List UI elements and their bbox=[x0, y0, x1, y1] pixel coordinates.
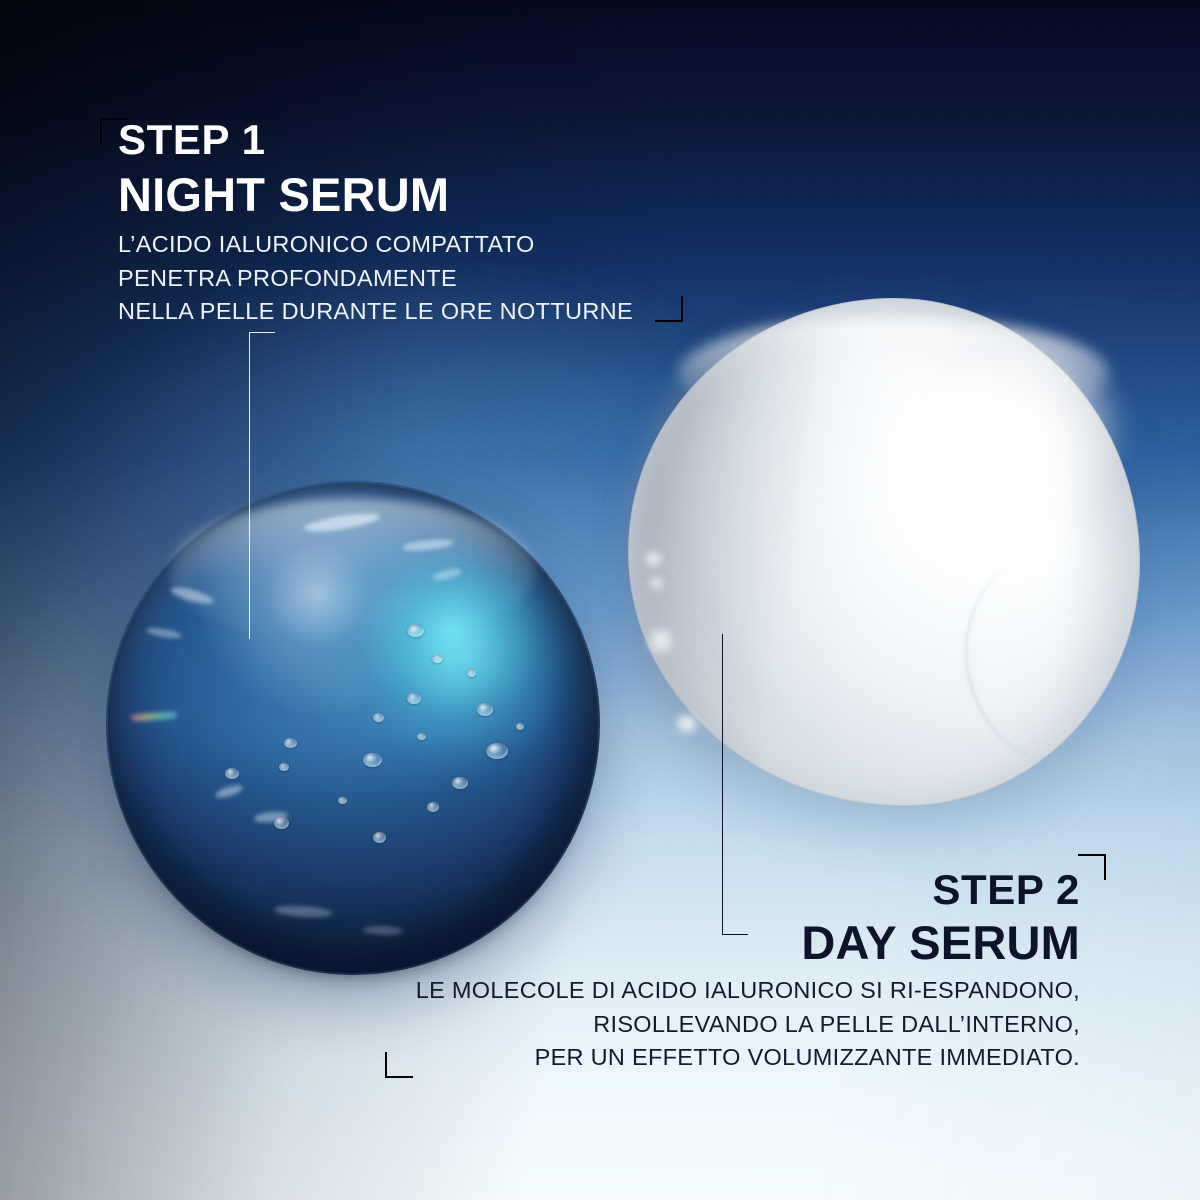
step1-title: NIGHT SERUM bbox=[118, 170, 633, 220]
step2-label: STEP 2 bbox=[416, 868, 1080, 912]
step2-text-block: STEP 2 DAY SERUM LE MOLECOLE DI ACIDO IA… bbox=[416, 868, 1080, 1074]
bracket-bottom-left-step2 bbox=[385, 1052, 413, 1078]
step1-description-line: L’ACIDO IALURONICO COMPATTATO bbox=[118, 228, 633, 261]
step1-description: L’ACIDO IALURONICO COMPATTATO PENETRA PR… bbox=[118, 228, 633, 327]
step2-description: LE MOLECOLE DI ACIDO IALURONICO SI RI-ES… bbox=[416, 974, 1080, 1073]
product-infographic: STEP 1 NIGHT SERUM L’ACIDO IALURONICO CO… bbox=[0, 0, 1200, 1200]
step1-description-line: NELLA PELLE DURANTE LE ORE NOTTURNE bbox=[118, 295, 633, 328]
step1-description-line: PENETRA PROFONDAMENTE bbox=[118, 262, 633, 295]
step2-description-line: RISOLLEVANDO LA PELLE DALL’INTERNO, bbox=[416, 1008, 1080, 1041]
day-serum-sphere bbox=[628, 298, 1140, 806]
step1-text-block: STEP 1 NIGHT SERUM L’ACIDO IALURONICO CO… bbox=[118, 118, 633, 328]
connector-line-step1 bbox=[249, 332, 275, 639]
bracket-top-right-step2 bbox=[1078, 854, 1106, 880]
step2-description-line: PER UN EFFETTO VOLUMIZZANTE IMMEDIATO. bbox=[416, 1041, 1080, 1074]
step2-description-line: LE MOLECOLE DI ACIDO IALURONICO SI RI-ES… bbox=[416, 974, 1080, 1007]
step1-label: STEP 1 bbox=[118, 118, 633, 162]
step2-title: DAY SERUM bbox=[416, 918, 1080, 968]
bracket-bottom-right-step1 bbox=[655, 296, 683, 322]
